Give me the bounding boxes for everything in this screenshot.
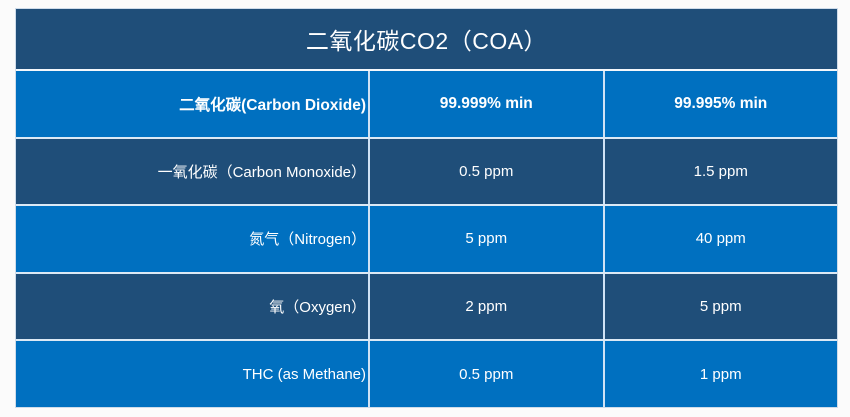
table-row: 氮气（Nitrogen） 5 ppm 40 ppm	[16, 206, 837, 274]
cell-grade-1: 2 ppm	[370, 274, 605, 340]
table-header-row: 二氧化碳(Carbon Dioxide) 99.999% min 99.995%…	[16, 71, 837, 139]
cell-grade-1: 0.5 ppm	[370, 139, 605, 205]
header-cell-grade-2: 99.995% min	[605, 71, 838, 137]
cell-grade-2: 1 ppm	[605, 341, 838, 407]
table-row: 氧（Oxygen） 2 ppm 5 ppm	[16, 274, 837, 342]
cell-grade-2: 40 ppm	[605, 206, 838, 272]
cell-grade-2: 5 ppm	[605, 274, 838, 340]
cell-component: 氮气（Nitrogen）	[16, 206, 370, 272]
cell-component: 氧（Oxygen）	[16, 274, 370, 340]
cell-component: THC (as Methane)	[16, 341, 370, 407]
cell-grade-2: 1.5 ppm	[605, 139, 838, 205]
co2-specification-table: 二氧化碳CO2（COA） 二氧化碳(Carbon Dioxide) 99.999…	[15, 8, 838, 408]
table-row: 一氧化碳（Carbon Monoxide） 0.5 ppm 1.5 ppm	[16, 139, 837, 207]
header-cell-component: 二氧化碳(Carbon Dioxide)	[16, 71, 370, 137]
cell-component: 一氧化碳（Carbon Monoxide）	[16, 139, 370, 205]
cell-grade-1: 0.5 ppm	[370, 341, 605, 407]
cell-grade-1: 5 ppm	[370, 206, 605, 272]
table-row: THC (as Methane) 0.5 ppm 1 ppm	[16, 341, 837, 407]
table-title: 二氧化碳CO2（COA）	[16, 9, 837, 71]
header-cell-grade-1: 99.999% min	[370, 71, 605, 137]
